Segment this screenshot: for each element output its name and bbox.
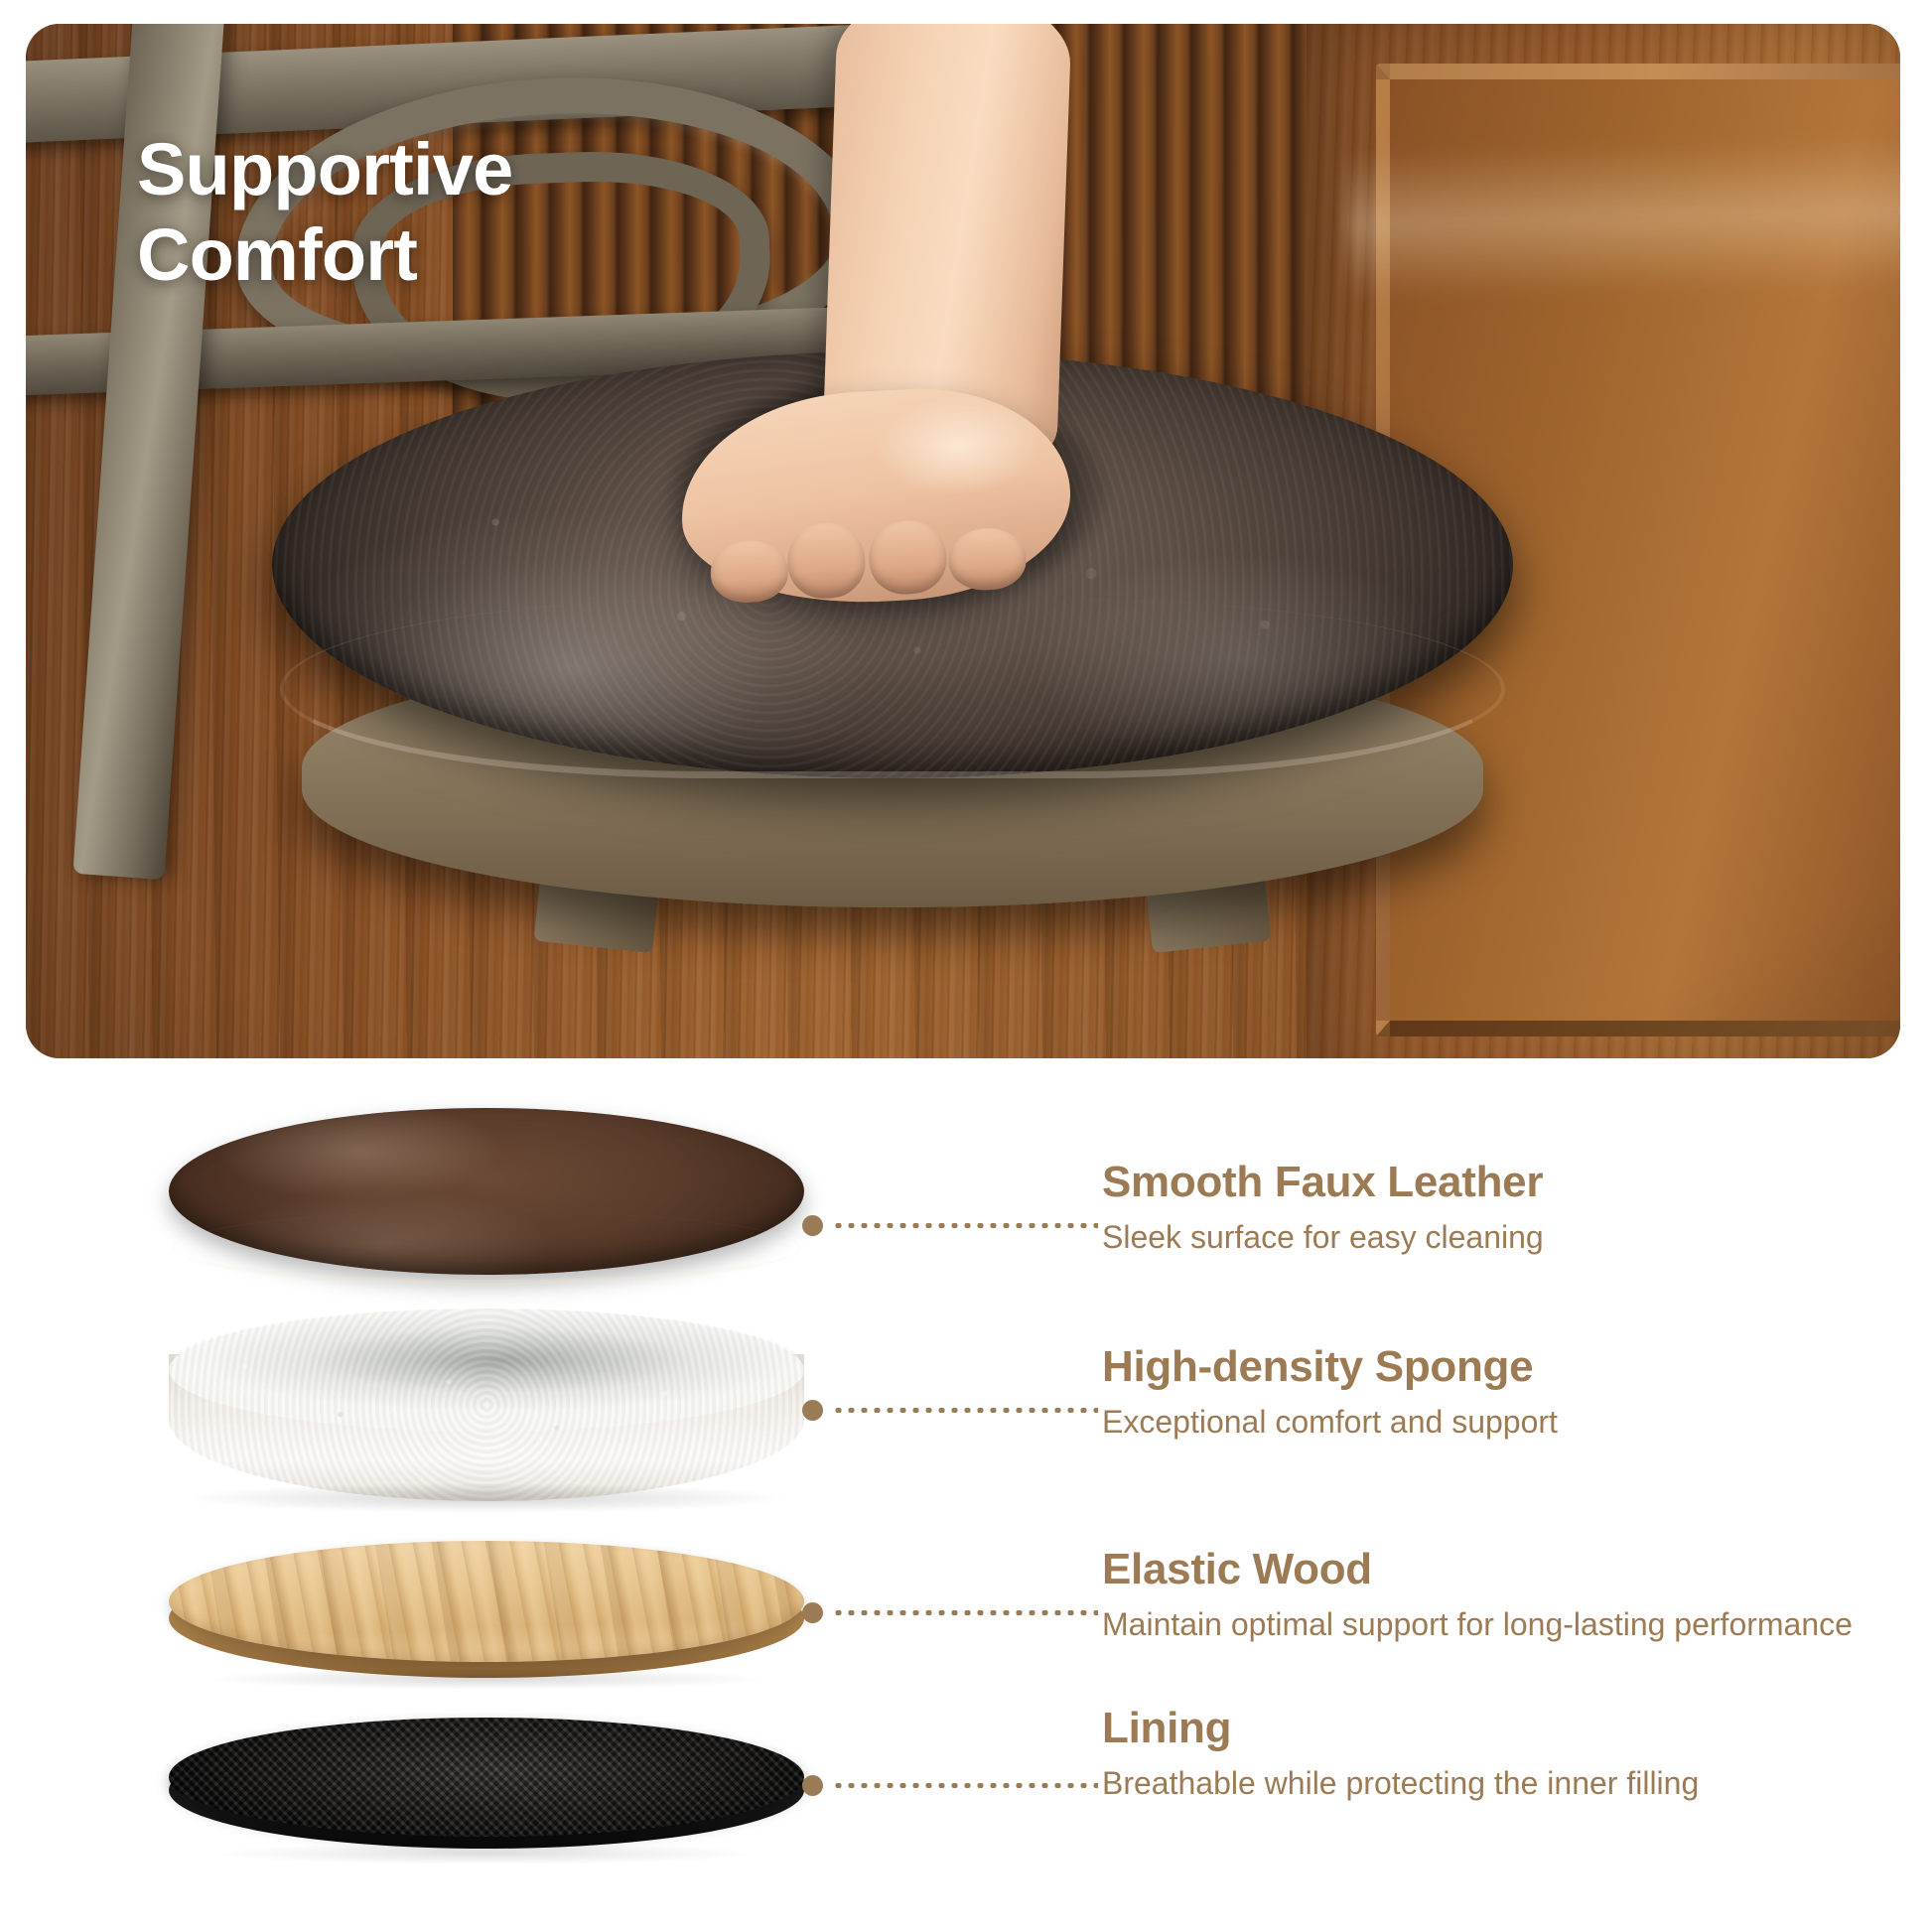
- wood-disc-shadow: [208, 1668, 764, 1690]
- wood-disc-icon: [169, 1541, 804, 1690]
- connector-dotted-line-icon: [832, 1610, 1098, 1615]
- connector-dot-icon: [802, 1215, 823, 1236]
- layer-title: Elastic Wood: [1102, 1547, 1896, 1593]
- connector-dot-icon: [802, 1602, 823, 1623]
- layer-title: High-density Sponge: [1102, 1344, 1896, 1391]
- layer-title: Lining: [1102, 1706, 1896, 1752]
- label-faux-leather: Smooth Faux Leather Sleek surface for ea…: [1102, 1160, 1896, 1258]
- foam-disc-top: [169, 1309, 804, 1432]
- label-elastic-wood: Elastic Wood Maintain optimal support fo…: [1102, 1547, 1896, 1645]
- knuckle: [785, 521, 867, 601]
- layer-title: Smooth Faux Leather: [1102, 1160, 1896, 1206]
- lining-disc-shadow: [218, 1843, 755, 1864]
- leather-disc-icon: [169, 1108, 804, 1287]
- connector-faux-leather: [802, 1215, 1098, 1235]
- hero-photo: Supportive Comfort: [26, 24, 1900, 1058]
- cushion-piping: [280, 600, 1505, 778]
- cabinet-door-gloss: [1344, 135, 1900, 300]
- layer-description: Breathable while protecting the inner fi…: [1102, 1763, 1896, 1805]
- mesh-lining-disc-icon: [169, 1718, 804, 1866]
- connector-elastic-wood: [802, 1602, 1098, 1622]
- layer-description: Sleek surface for easy cleaning: [1102, 1217, 1896, 1259]
- connector-high-density-sponge: [802, 1400, 1098, 1420]
- layer-description: Exceptional comfort and support: [1102, 1402, 1896, 1444]
- infographic-page: Supportive Comfort Smooth Faux Leather S…: [0, 0, 1932, 1932]
- label-lining: Lining Breathable while protecting the i…: [1102, 1706, 1896, 1804]
- exploded-layer-diagram: Smooth Faux Leather Sleek surface for ea…: [0, 1088, 1932, 1932]
- connector-dot-icon: [802, 1400, 823, 1421]
- layer-description: Maintain optimal support for long-lastin…: [1102, 1604, 1896, 1646]
- leather-disc-lip: [172, 1211, 801, 1285]
- connector-dotted-line-icon: [832, 1223, 1098, 1228]
- label-high-density-sponge: High-density Sponge Exceptional comfort …: [1102, 1344, 1896, 1443]
- foam-disc-shadow: [189, 1483, 784, 1513]
- lining-disc-top: [169, 1718, 804, 1837]
- wood-disc-top: [169, 1541, 804, 1662]
- connector-dotted-line-icon: [832, 1783, 1098, 1788]
- connector-dotted-line-icon: [832, 1408, 1098, 1413]
- knuckle: [867, 518, 948, 596]
- connector-dot-icon: [802, 1775, 823, 1796]
- foam-disc-icon: [169, 1309, 804, 1507]
- connector-lining: [802, 1775, 1098, 1795]
- hero-title: Supportive Comfort: [137, 127, 512, 298]
